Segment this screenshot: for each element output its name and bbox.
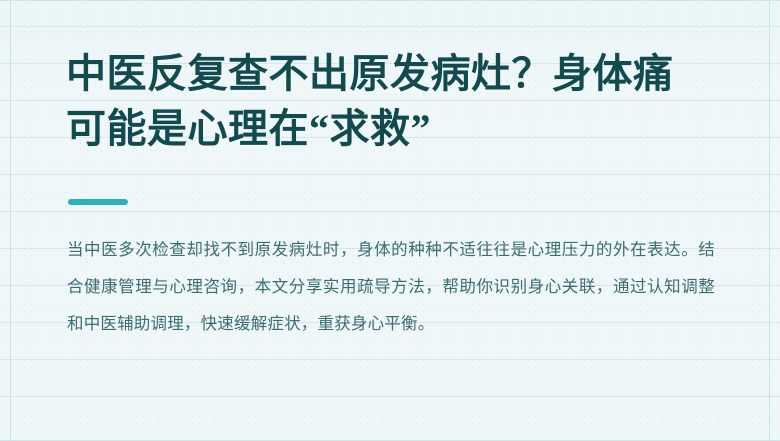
background-vertical-line-left [10,0,11,441]
cover-content: 中医反复查不出原发病灶？身体痛 可能是心理在“求救” 当中医多次检查却找不到原发… [66,0,726,441]
background-vertical-line-right [769,0,770,441]
accent-divider [68,199,128,205]
article-cover-card: 中医反复查不出原发病灶？身体痛 可能是心理在“求救” 当中医多次检查却找不到原发… [0,0,780,441]
page-title: 中医反复查不出原发病灶？身体痛 可能是心理在“求救” [66,46,726,156]
summary-paragraph: 当中医多次检查却找不到原发病灶时，身体的种种不适往往是心理压力的外在表达。结合健… [67,232,715,343]
